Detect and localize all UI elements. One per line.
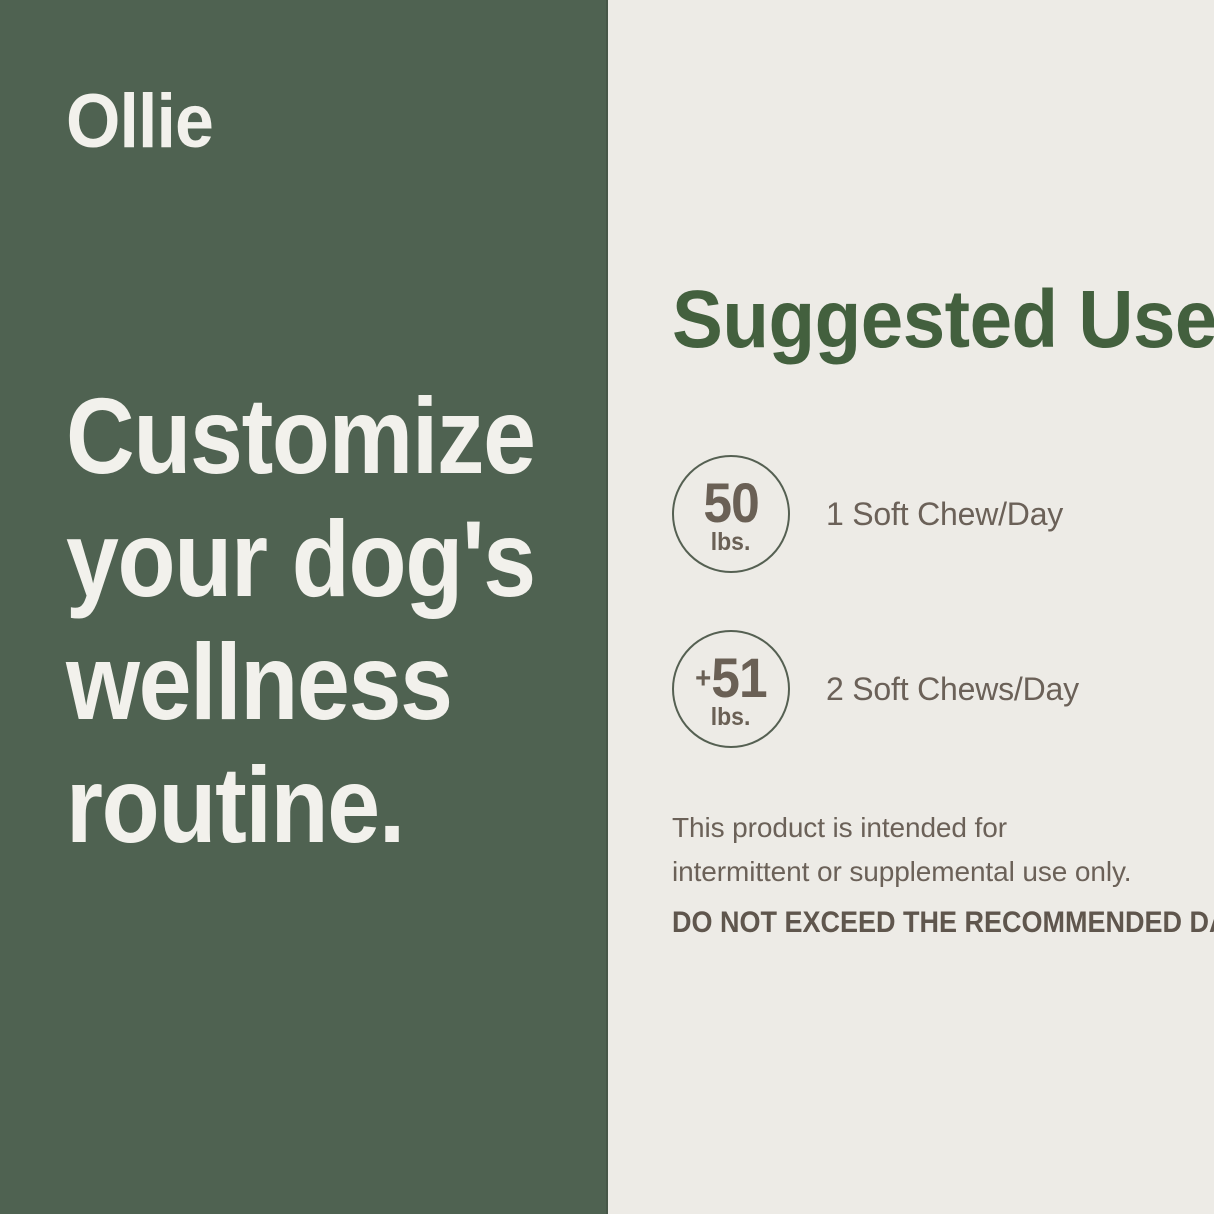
disclaimer-text: This product is intended for intermitten… xyxy=(672,806,1192,894)
badge-unit-label: lbs. xyxy=(711,530,751,555)
weight-badge-51-plus-icon: + 51 lbs. xyxy=(672,630,790,748)
disclaimer-line-1: This product is intended for xyxy=(672,806,1192,850)
headline-line-1: Customize xyxy=(66,374,524,497)
headline-line-3: wellness xyxy=(66,620,524,743)
weight-badge-50-icon: 50 lbs. xyxy=(672,455,790,573)
page-title: Customize your dog's wellness routine. xyxy=(66,374,586,866)
product-info-poster: Ollie Customize your dog's wellness rout… xyxy=(0,0,1214,1214)
badge-number: 51 xyxy=(711,654,766,702)
dose-label: 2 Soft Chews/Day xyxy=(826,670,1079,708)
badge-unit-label: lbs. xyxy=(711,705,751,730)
right-info-panel: Suggested Use 50 lbs. 1 Soft Chew/Day + … xyxy=(608,0,1214,1214)
disclaimer-line-2: intermittent or supplemental use only. xyxy=(672,850,1192,894)
dose-row: + 51 lbs. 2 Soft Chews/Day xyxy=(672,630,1079,748)
brand-logo: Ollie xyxy=(66,84,213,160)
headline-line-2: your dog's xyxy=(66,497,524,620)
badge-plus-sign: + xyxy=(695,664,710,694)
warning-text: DO NOT EXCEED THE RECOMMENDED DAILY AMOU… xyxy=(672,906,1214,940)
badge-weight-value: + 51 xyxy=(695,654,767,702)
suggested-use-heading: Suggested Use xyxy=(672,278,1214,362)
dose-row: 50 lbs. 1 Soft Chew/Day xyxy=(672,455,1063,573)
dose-label: 1 Soft Chew/Day xyxy=(826,495,1063,533)
left-green-panel: Ollie Customize your dog's wellness rout… xyxy=(0,0,608,1214)
badge-number: 50 xyxy=(704,479,759,527)
headline-line-4: routine. xyxy=(66,743,524,866)
badge-weight-value: 50 xyxy=(703,479,759,527)
